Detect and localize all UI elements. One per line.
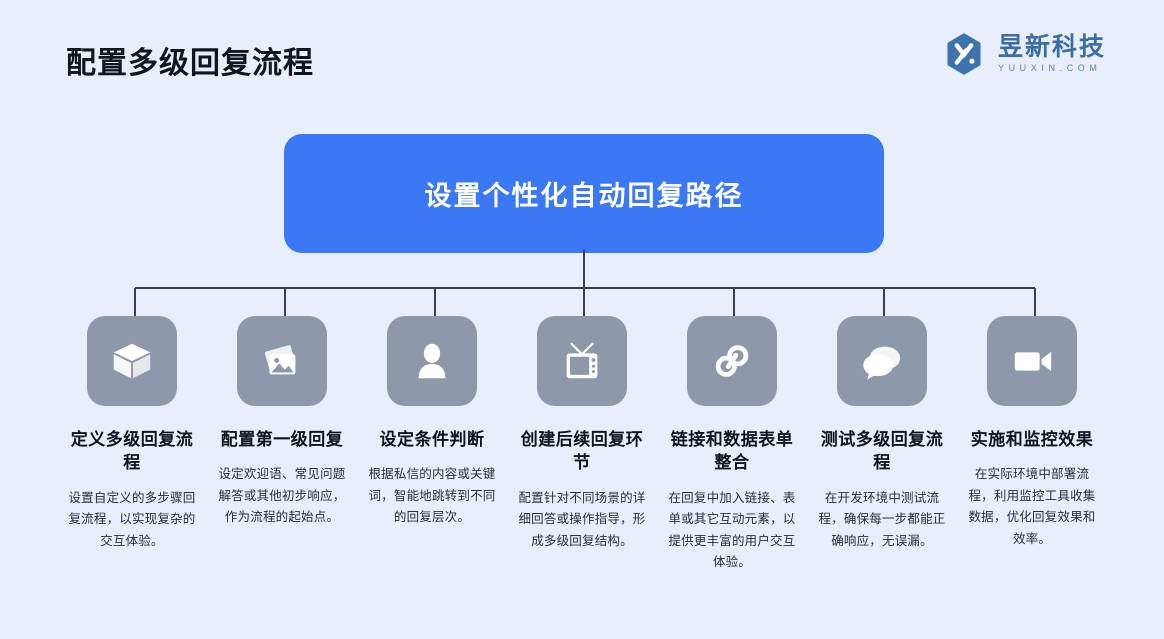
- tree-connectors: [0, 250, 1164, 320]
- cube-icon: [109, 338, 155, 384]
- user-icon: [409, 338, 455, 384]
- step-icon-tile-4[interactable]: [537, 316, 627, 406]
- step-column-3[interactable]: 设定条件判断 根据私信的内容或关键词，智能地跳转到不同的回复层次。: [357, 316, 507, 574]
- step-columns: 定义多级回复流程 设置自定义的多步骤回复流程，以实现复杂的交互体验。 配置第一级…: [0, 316, 1164, 574]
- page-header: 配置多级回复流程 昱新科技 YUUXIN.COM: [0, 0, 1164, 108]
- step-title-5: 链接和数据表单整合: [669, 428, 795, 475]
- step-title-1: 定义多级回复流程: [69, 428, 195, 475]
- step-title-3: 设定条件判断: [369, 428, 495, 451]
- step-icon-tile-5[interactable]: [687, 316, 777, 406]
- root-node[interactable]: 设置个性化自动回复路径: [284, 134, 884, 253]
- step-title-4: 创建后续回复环节: [519, 428, 645, 475]
- chat-bubbles-icon: [859, 338, 905, 384]
- step-icon-tile-3[interactable]: [387, 316, 477, 406]
- brand-text-block: 昱新科技 YUUXIN.COM: [998, 35, 1106, 73]
- television-icon: [559, 338, 605, 384]
- root-node-label: 设置个性化自动回复路径: [425, 174, 744, 213]
- step-desc-3: 根据私信的内容或关键词，智能地跳转到不同的回复层次。: [366, 464, 498, 529]
- video-camera-icon: [1009, 338, 1055, 384]
- photos-icon: [259, 338, 305, 384]
- brand-domain: YUUXIN.COM: [998, 64, 1106, 73]
- step-desc-4: 配置针对不同场景的详细回答或操作指导，形成多级回复结构。: [516, 488, 648, 553]
- brand-logo: 昱新科技 YUUXIN.COM: [941, 31, 1106, 77]
- step-column-7[interactable]: 实施和监控效果 在实际环境中部署流程，利用监控工具收集数据，优化回复效果和效率。: [957, 316, 1107, 574]
- step-icon-tile-7[interactable]: [987, 316, 1077, 406]
- chain-link-icon: [709, 338, 755, 384]
- step-column-6[interactable]: 测试多级回复流程 在开发环境中测试流程，确保每一步都能正确响应，无误漏。: [807, 316, 957, 574]
- step-icon-tile-1[interactable]: [87, 316, 177, 406]
- step-column-4[interactable]: 创建后续回复环节 配置针对不同场景的详细回答或操作指导，形成多级回复结构。: [507, 316, 657, 574]
- step-desc-7: 在实际环境中部署流程，利用监控工具收集数据，优化回复效果和效率。: [966, 464, 1098, 550]
- step-title-6: 测试多级回复流程: [819, 428, 945, 475]
- step-desc-2: 设定欢迎语、常见问题解答或其他初步响应，作为流程的起始点。: [216, 464, 348, 529]
- hexagon-y-logo-icon: [941, 31, 987, 77]
- step-title-2: 配置第一级回复: [219, 428, 345, 451]
- step-desc-5: 在回复中加入链接、表单或其它互动元素，以提供更丰富的用户交互体验。: [666, 488, 798, 574]
- step-icon-tile-2[interactable]: [237, 316, 327, 406]
- brand-name: 昱新科技: [998, 35, 1106, 60]
- step-desc-1: 设置自定义的多步骤回复流程，以实现复杂的交互体验。: [66, 488, 198, 553]
- step-desc-6: 在开发环境中测试流程，确保每一步都能正确响应，无误漏。: [816, 488, 948, 553]
- page-title: 配置多级回复流程: [66, 38, 314, 82]
- step-title-7: 实施和监控效果: [969, 428, 1095, 451]
- step-column-5[interactable]: 链接和数据表单整合 在回复中加入链接、表单或其它互动元素，以提供更丰富的用户交互…: [657, 316, 807, 574]
- step-icon-tile-6[interactable]: [837, 316, 927, 406]
- step-column-2[interactable]: 配置第一级回复 设定欢迎语、常见问题解答或其他初步响应，作为流程的起始点。: [207, 316, 357, 574]
- step-column-1[interactable]: 定义多级回复流程 设置自定义的多步骤回复流程，以实现复杂的交互体验。: [57, 316, 207, 574]
